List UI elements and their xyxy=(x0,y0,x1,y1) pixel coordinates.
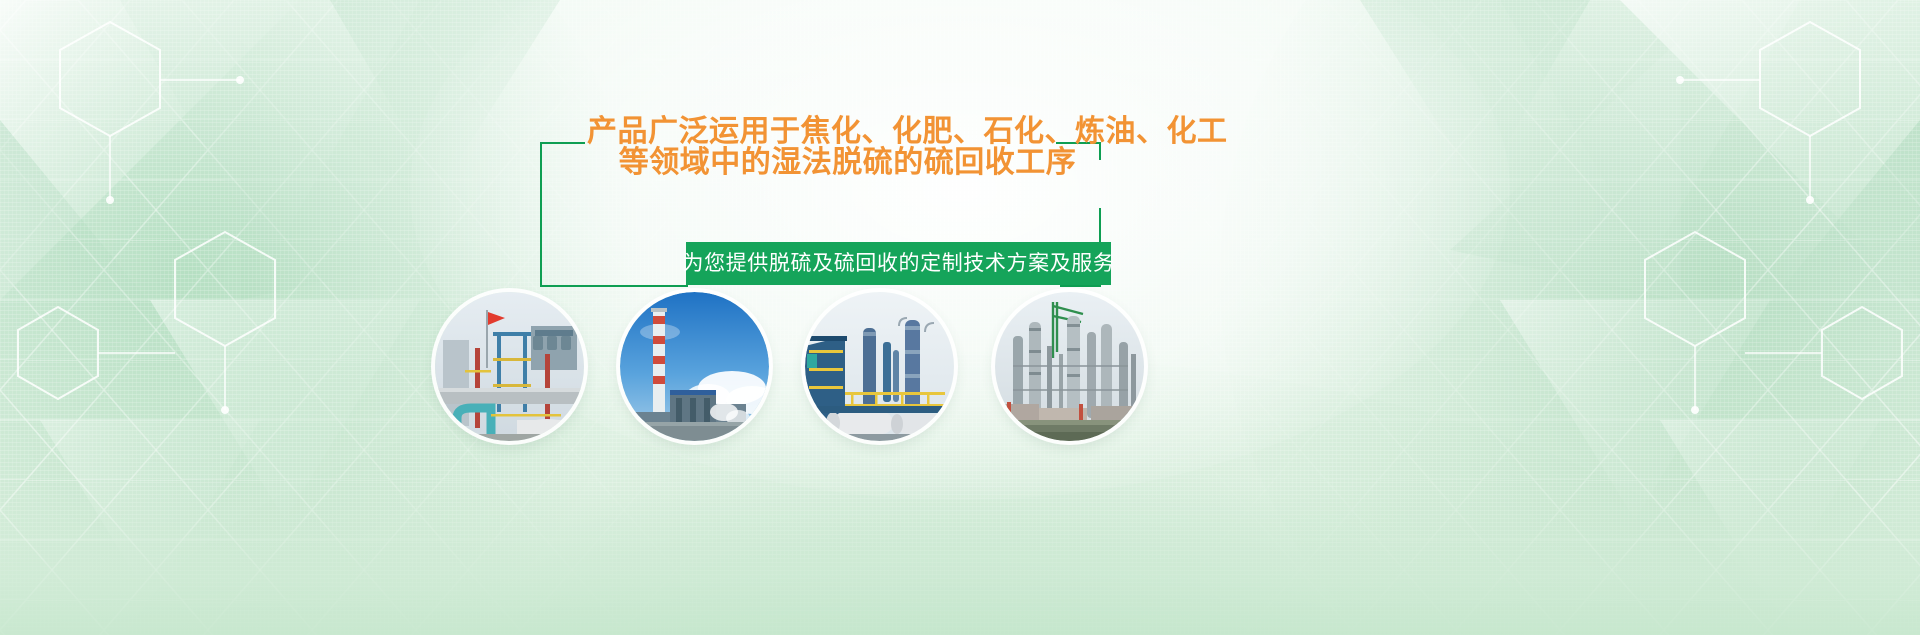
hero-banner: 产品广泛运用于焦化、化肥、石化、炼油、化工 等领域中的湿法脱硫的硫回收工序 为您… xyxy=(0,0,1920,635)
subtitle-text: 为您提供脱硫及硫回收的定制技术方案及服务 xyxy=(683,253,1115,274)
headline-block: 产品广泛运用于焦化、化肥、石化、炼油、化工 等领域中的湿法脱硫的硫回收工序 为您… xyxy=(540,116,1120,276)
bracket-right-foot xyxy=(1060,285,1101,287)
photo-refinery-towers[interactable] xyxy=(995,292,1144,441)
headline-text: 产品广泛运用于焦化、化肥、石化、炼油、化工 等领域中的湿法脱硫的硫回收工序 xyxy=(595,116,1100,178)
subtitle-green-bar: 为您提供脱硫及硫回收的定制技术方案及服务 xyxy=(686,242,1111,285)
headline-line-1: 产品广泛运用于焦化、化肥、石化、炼油、化工 xyxy=(587,116,1100,147)
bracket-left-rail xyxy=(540,142,542,287)
photo-desulfurization-plant[interactable] xyxy=(435,292,584,441)
bottom-fade-overlay xyxy=(0,485,1920,635)
headline-line-2: 等领域中的湿法脱硫的硫回收工序 xyxy=(595,147,1100,178)
bracket-top-left-arm xyxy=(540,142,585,144)
photo-sulfur-recovery-unit[interactable] xyxy=(805,292,954,441)
bracket-bottom-arm xyxy=(540,285,688,287)
photo-circle-row xyxy=(0,292,1920,442)
photo-chimney-stack[interactable] xyxy=(620,292,769,441)
